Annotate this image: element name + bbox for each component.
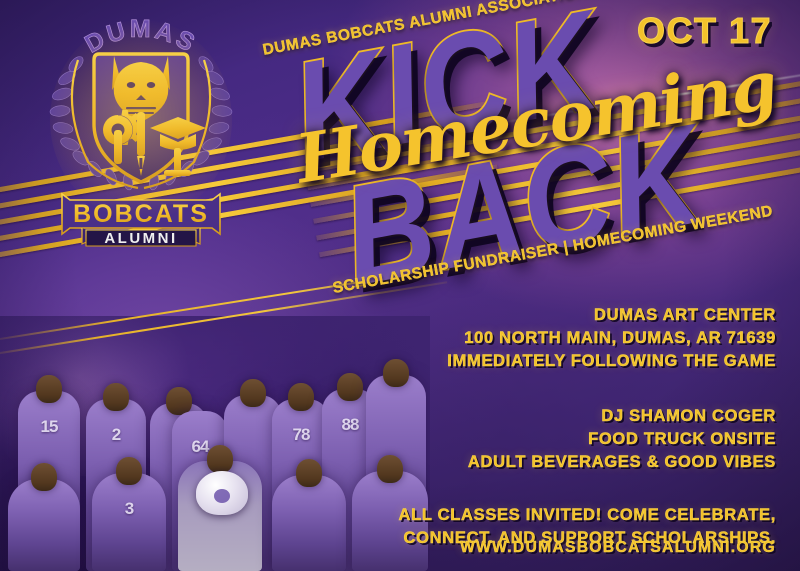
website-url[interactable]: WWW.DUMASBOBCATSALUMNI.ORG bbox=[460, 539, 776, 557]
bobcats-alumni-crest-logo: DUMAS BOBCATS ALUMNI bbox=[42, 12, 240, 260]
features-group: DJ SHAMON COGER FOOD TRUCK ONSITE ADULT … bbox=[256, 405, 776, 474]
title-block: DUMAS BOBCATS ALUMNI ASSOCIATION KICKBAC… bbox=[255, 8, 795, 308]
callout-line-1: ALL CLASSES INVITED! COME CELEBRATE, bbox=[256, 504, 776, 527]
player-head bbox=[103, 383, 129, 411]
player-head bbox=[31, 463, 57, 491]
venue-address: 100 NORTH MAIN, DUMAS, AR 71639 bbox=[256, 327, 776, 350]
jersey-number: 3 bbox=[92, 499, 166, 519]
crest-glow bbox=[50, 20, 232, 220]
jersey-number: 15 bbox=[18, 417, 80, 437]
venue-group: DUMAS ART CENTER 100 NORTH MAIN, DUMAS, … bbox=[256, 304, 776, 373]
football-helmet bbox=[196, 471, 248, 515]
website-wrap: WWW.DUMASBOBCATSALUMNI.ORG bbox=[460, 539, 776, 557]
jersey-number: 2 bbox=[86, 425, 146, 445]
feature-food: FOOD TRUCK ONSITE bbox=[256, 428, 776, 451]
venue-name: DUMAS ART CENTER bbox=[256, 304, 776, 327]
venue-timing: IMMEDIATELY FOLLOWING THE GAME bbox=[256, 350, 776, 373]
feature-dj: DJ SHAMON COGER bbox=[256, 405, 776, 428]
player-head bbox=[116, 457, 142, 485]
player-figure bbox=[8, 479, 80, 571]
player-head bbox=[36, 375, 62, 403]
feature-beverages: ADULT BEVERAGES & GOOD VIBES bbox=[256, 451, 776, 474]
crest-banner-secondary: ALUMNI bbox=[104, 230, 177, 247]
event-flyer: 15 2 64 78 88 bbox=[0, 0, 800, 571]
event-details: DUMAS ART CENTER 100 NORTH MAIN, DUMAS, … bbox=[256, 304, 776, 550]
date-badge: OCT 17 bbox=[637, 10, 772, 52]
player-figure: 3 bbox=[92, 473, 166, 571]
coach-head bbox=[207, 445, 233, 473]
